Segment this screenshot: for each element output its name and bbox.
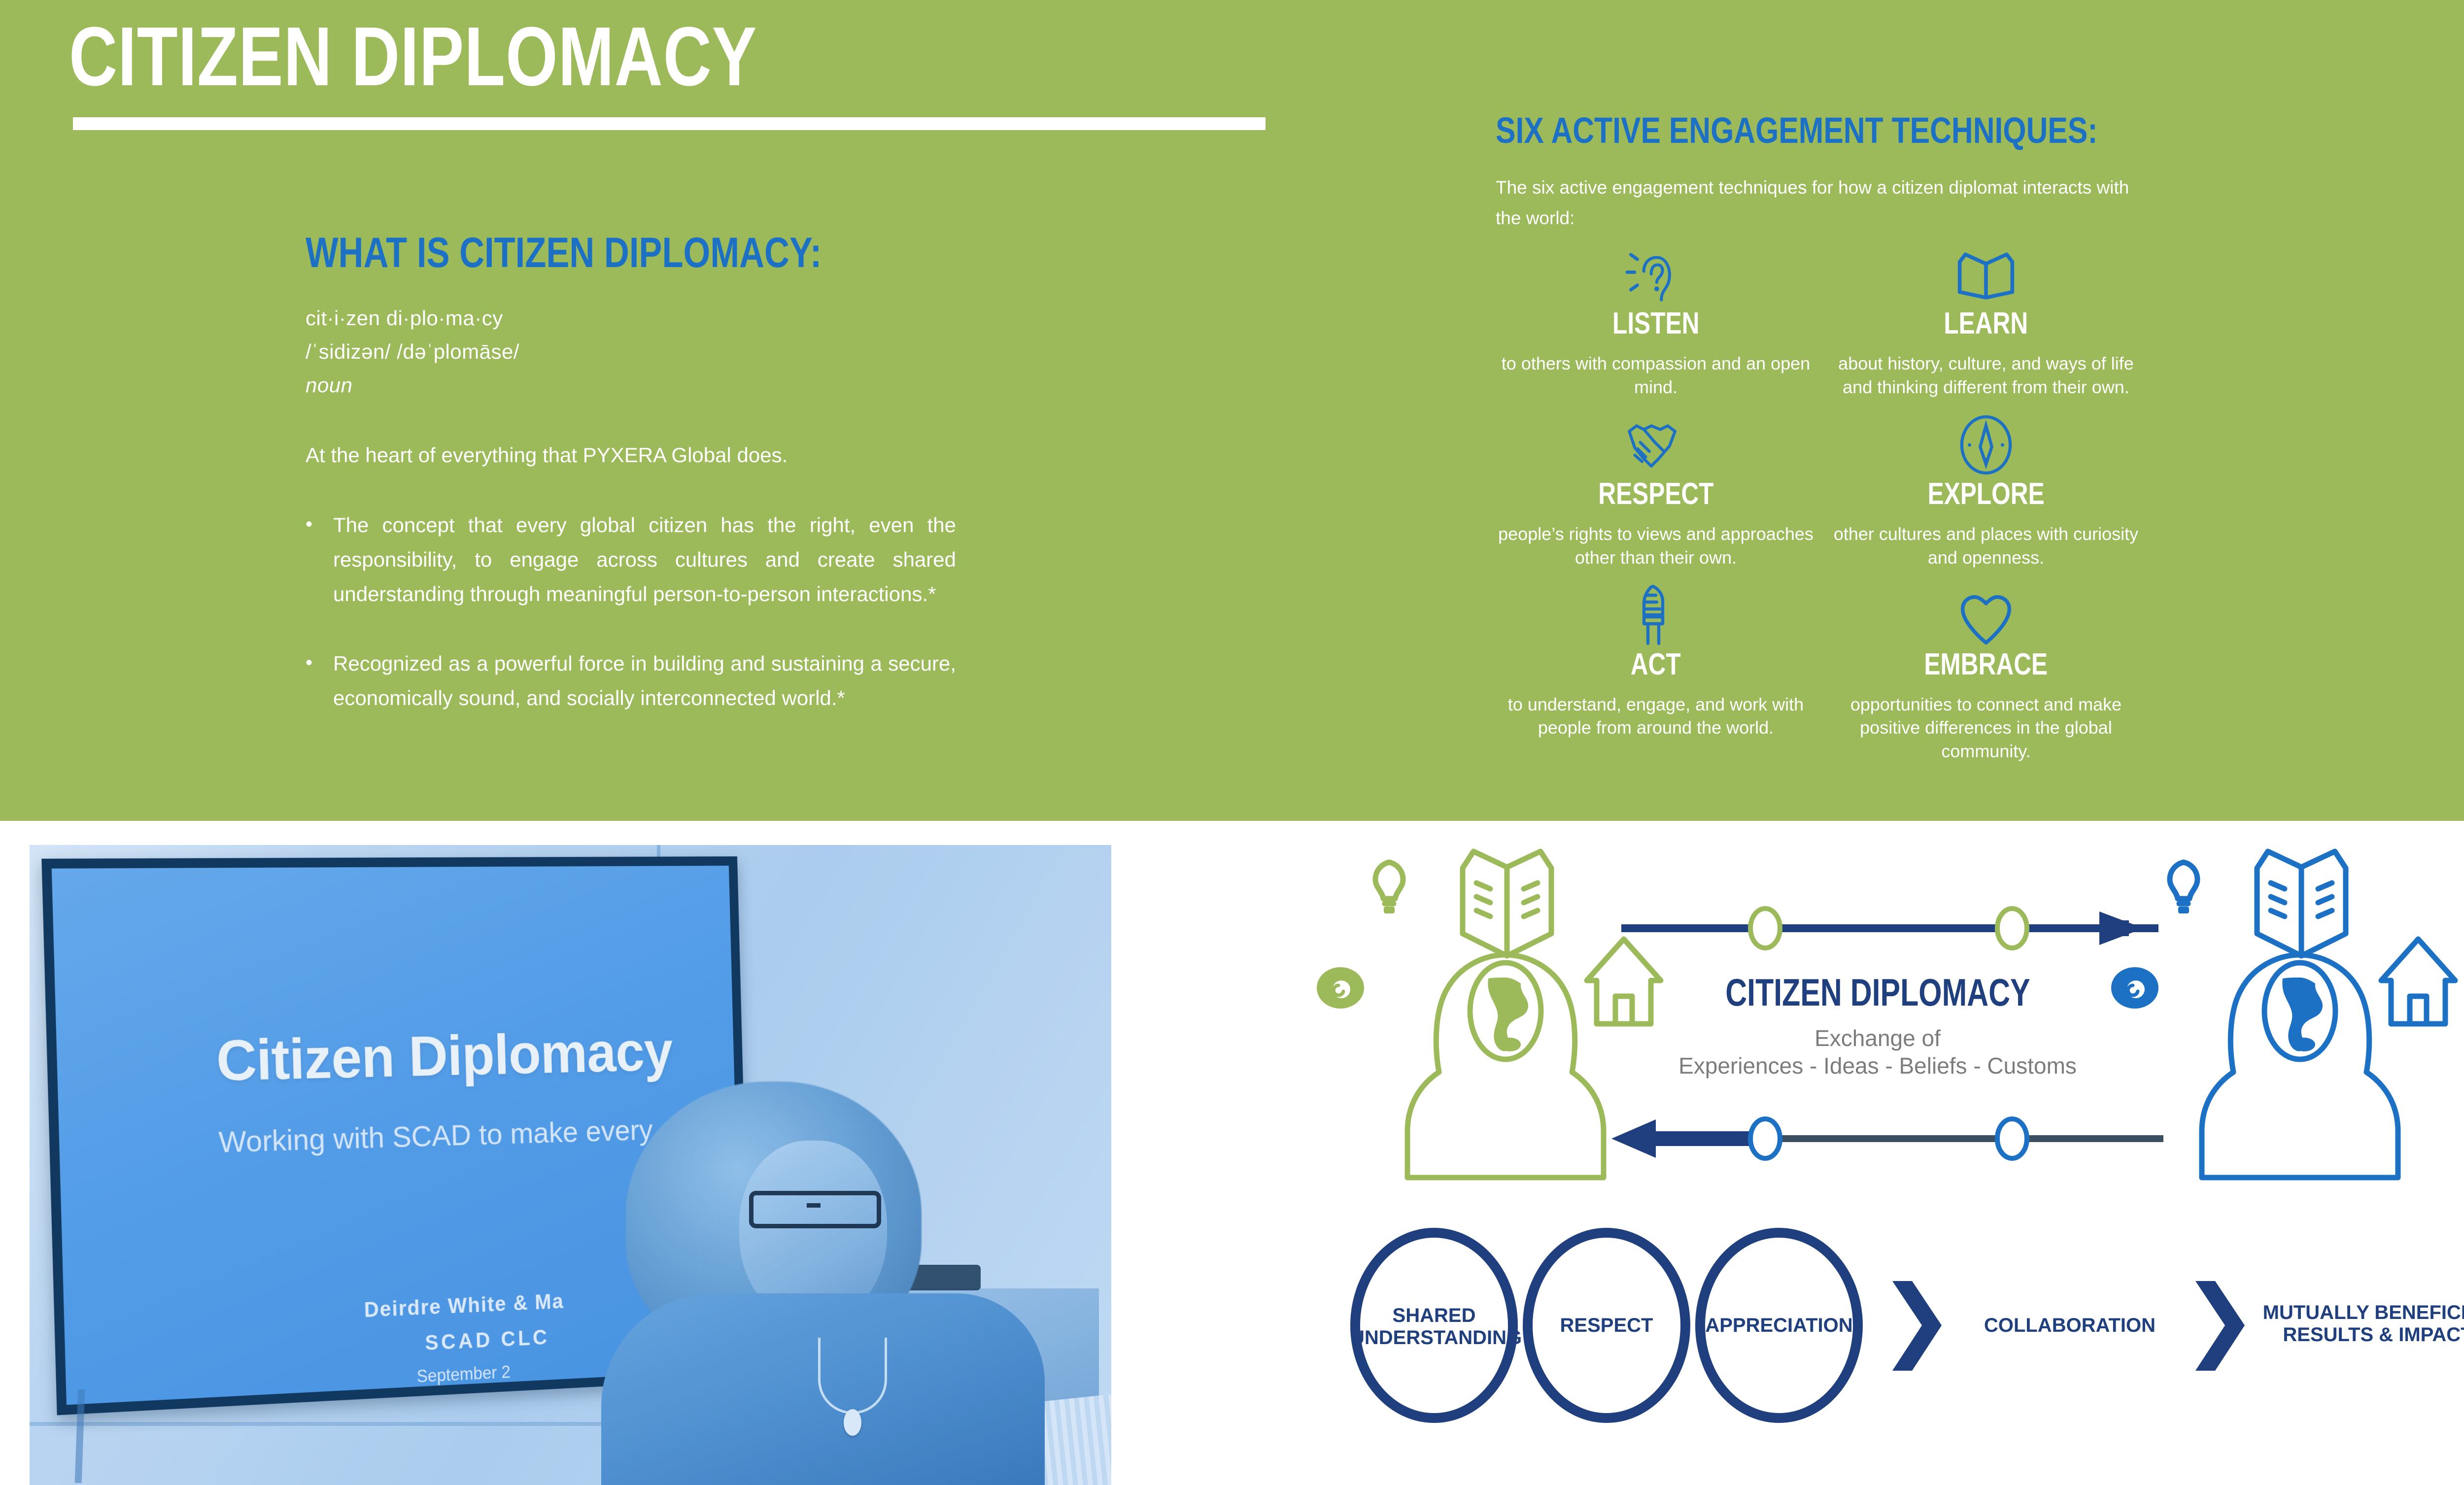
bullet-text: The concept that every global citizen ha…	[333, 508, 956, 611]
photo-blue-duotone-overlay	[30, 845, 1111, 1485]
lightbulb-icon	[2170, 862, 2197, 913]
exchange-center-label: CITIZEN DIPLOMACY Exchange of Experience…	[1648, 973, 2107, 1080]
technique-name: RESPECT	[1598, 479, 1713, 509]
page-title: CITIZEN DIPLOMACY	[69, 15, 757, 99]
flow-label-appreciation: APPRECIATION	[1700, 1315, 1858, 1337]
arrow-node-blue	[1750, 1119, 1780, 1158]
six-techniques-intro: The six active engagement techniques for…	[1496, 172, 2136, 234]
chevron-right-icon	[2195, 1281, 2245, 1371]
six-techniques-grid: LISTEN to others with compassion and an …	[1493, 241, 2149, 763]
open-book-icon	[2257, 851, 2346, 956]
technique-description: to understand, engage, and work with peo…	[1498, 693, 1814, 740]
ear-listen-icon	[1626, 241, 1685, 305]
green-hero-panel: CITIZEN DIPLOMACY WHAT IS CITIZEN DIPLOM…	[0, 0, 2464, 821]
citizen-diplomacy-presentation-photo: Citizen Diplomacy Working with SCAD to m…	[30, 845, 1111, 1485]
handshake-icon	[1624, 412, 1688, 476]
section-heading-six-techniques: SIX ACTIVE ENGAGEMENT TECHNIQUES:	[1496, 112, 2029, 149]
list-item: • Recognized as a powerful force in buil…	[306, 646, 956, 715]
technique-listen: LISTEN to others with compassion and an …	[1493, 241, 1818, 399]
technique-explore: EXPLORE other cultures and places with c…	[1823, 404, 2149, 570]
dictionary-part-of-speech: noun	[306, 369, 956, 402]
technique-description: people’s rights to views and approaches …	[1498, 522, 1814, 570]
technique-name: EXPLORE	[1927, 479, 2044, 509]
dictionary-word: cit·i·zen di·plo·ma·cy	[306, 302, 956, 335]
flow-label-collaboration: COLLABORATION	[1961, 1315, 2178, 1337]
technique-learn: LEARN about history, culture, and ways o…	[1823, 241, 2149, 399]
house-icon	[2381, 939, 2455, 1024]
arrow-node-blue	[1997, 1119, 2027, 1158]
open-book-icon	[1463, 851, 1551, 956]
heart-icon	[1958, 582, 2014, 646]
technique-description: to others with compassion and an open mi…	[1498, 352, 1814, 399]
eye-icon	[1317, 967, 1364, 1009]
technique-embrace: EMBRACE opportunities to connect and mak…	[1823, 574, 2149, 764]
arrow-node-green	[1997, 909, 2027, 948]
technique-description: other cultures and places with curiosity…	[1828, 522, 2144, 570]
bullet-text: Recognized as a powerful force in buildi…	[333, 646, 956, 715]
top-exchange-arrow	[1621, 909, 2158, 948]
citizen-figure-green	[1317, 851, 1661, 1178]
flow-label-shared-understanding: SHARED UNDERSTANDING	[1350, 1305, 1518, 1349]
technique-name: ACT	[1631, 649, 1681, 680]
eye-icon	[2111, 967, 2158, 1009]
compass-icon	[1957, 412, 2015, 476]
raised-fist-icon	[1633, 582, 1678, 646]
lead-paragraph: At the heart of everything that PYXERA G…	[306, 439, 956, 472]
six-techniques-section: SIX ACTIVE ENGAGEMENT TECHNIQUES: The si…	[1496, 112, 2146, 234]
globe-head-figure	[1407, 955, 1604, 1178]
exchange-subtitle-line1: Exchange of	[1648, 1024, 2107, 1052]
arrow-node-green	[1750, 909, 1780, 948]
process-flow-diagram: SHARED UNDERSTANDING RESPECT APPRECIATIO…	[1331, 1227, 2464, 1434]
open-book-icon	[1956, 241, 2016, 305]
what-is-citizen-diplomacy-section: WHAT IS CITIZEN DIPLOMACY: cit·i·zen di·…	[306, 232, 956, 751]
lightbulb-icon	[1375, 860, 1404, 913]
bullet-marker-icon: •	[306, 646, 333, 715]
globe-head-figure	[2202, 955, 2398, 1178]
list-item: • The concept that every global citizen …	[306, 508, 956, 611]
technique-name: LEARN	[1944, 308, 2028, 339]
exchange-center-title: CITIZEN DIPLOMACY	[1725, 973, 2030, 1012]
technique-description: about history, culture, and ways of life…	[1828, 352, 2144, 399]
technique-name: EMBRACE	[1924, 649, 2048, 680]
dictionary-pronunciation: /ˈsidizən/ /dəˈplomāse/	[306, 335, 956, 369]
definition-bullet-list: • The concept that every global citizen …	[306, 508, 956, 715]
title-underline-rule	[73, 117, 1266, 130]
exchange-subtitle-line2: Experiences - Ideas - Beliefs - Customs	[1648, 1052, 2107, 1080]
citizen-figure-blue	[2111, 851, 2455, 1178]
section-heading-what-is: WHAT IS CITIZEN DIPLOMACY:	[306, 232, 839, 274]
technique-name: LISTEN	[1612, 308, 1699, 339]
chevron-right-icon	[1892, 1281, 1942, 1371]
flow-label-respect: RESPECT	[1528, 1315, 1685, 1337]
technique-act: ACT to understand, engage, and work with…	[1493, 574, 1818, 764]
technique-description: opportunities to connect and make positi…	[1828, 693, 2144, 764]
technique-respect: RESPECT people’s rights to views and app…	[1493, 404, 1818, 570]
bullet-marker-icon: •	[306, 508, 333, 611]
bottom-exchange-arrow	[1611, 1119, 2163, 1158]
flow-label-mutually-beneficial: MUTUALLY BENEFICIAL RESULTS & IMPACT	[2262, 1302, 2464, 1346]
